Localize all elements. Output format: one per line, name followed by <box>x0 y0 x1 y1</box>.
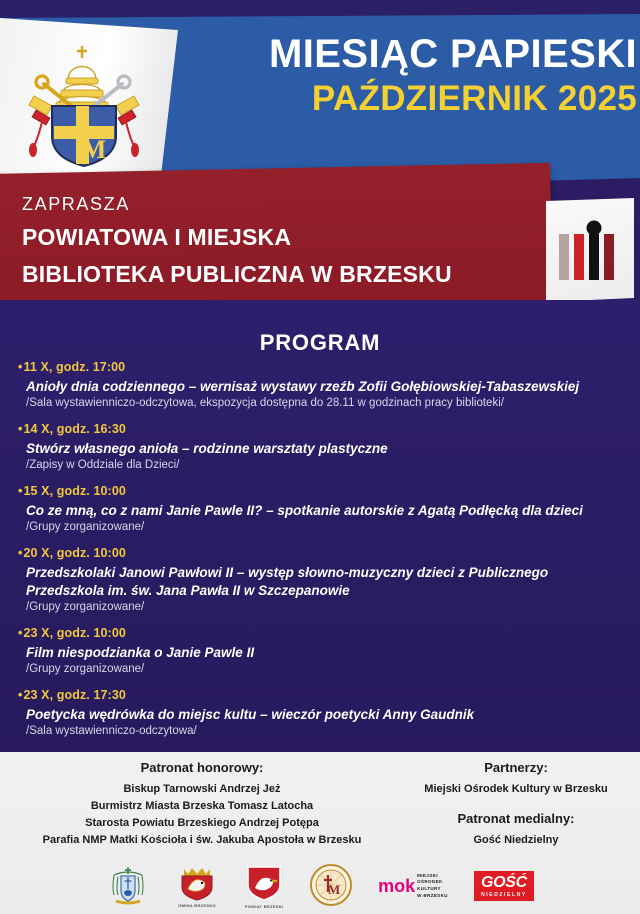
program-item: •23 X, godz. 10:00 Film niespodzianka o … <box>18 626 628 677</box>
logo-caption: GMINA BRZESKO <box>178 903 216 908</box>
media-patronage-heading: Patronat medialny: <box>398 811 634 826</box>
program-item-title: Poetycka wędrówka do miejsc kultu – wiec… <box>26 706 628 724</box>
parafia-nmp-logo: M <box>310 864 352 906</box>
gosc-niedzielny-logo: GOŚĆ NIEDZIELNY <box>474 871 534 901</box>
crest-panel: M <box>0 18 178 184</box>
program-item-date: •14 X, godz. 16:30 <box>18 422 628 438</box>
partner-line: Miejski Ośrodek Kultury w Brzesku <box>398 781 634 798</box>
powiat-brzeski-logo <box>244 864 284 902</box>
svg-text:M: M <box>82 135 107 164</box>
bullet-icon: • <box>18 422 22 436</box>
organizer-line-2: BIBLIOTEKA PUBLICZNA W BRZESKU <box>22 261 542 288</box>
program-item-title: Film niespodzianka o Janie Pawle II <box>26 644 628 662</box>
mok-brzesko-logo: mok MIEJSKI OŚRODEK KULTURY W BRZESKU <box>378 873 448 900</box>
mok-subtext: MIEJSKI OŚRODEK KULTURY W BRZESKU <box>417 873 448 900</box>
svg-text:M: M <box>328 882 340 897</box>
page-subtitle: PAŹDZIERNIK 2025 <box>185 81 637 116</box>
gosc-wordmark: GOŚĆ <box>481 875 527 891</box>
program-item: •23 X, godz. 17:30 Poetycka wędrówka do … <box>18 688 628 739</box>
logo-item: mok MIEJSKI OŚRODEK KULTURY W BRZESKU <box>378 860 448 912</box>
program-heading: PROGRAM <box>0 330 640 356</box>
sponsor-logo-strip: GMINA BRZESKO POWIAT BRZESKI M <box>0 858 640 914</box>
program-item-date: •20 X, godz. 10:00 <box>18 546 628 562</box>
program-item-title: Co ze mną, co z nami Janie Pawle II? – s… <box>26 502 628 520</box>
honorary-patron-line: Biskup Tarnowski Andrzej Jeż <box>12 781 392 798</box>
program-item-note: /Grupy zorganizowane/ <box>26 520 628 535</box>
program-item-title: Przedszkolaki Janowi Pawłowi II – występ… <box>26 564 628 599</box>
papal-coat-of-arms-icon: M <box>18 40 150 168</box>
program-item-title: Anioły dnia codziennego – wernisaż wysta… <box>26 378 628 396</box>
logo-caption: POWIAT BRZESKI <box>245 904 284 909</box>
program-item-date: •23 X, godz. 10:00 <box>18 626 628 642</box>
program-list: •11 X, godz. 17:00 Anioły dnia codzienne… <box>18 360 628 750</box>
honorary-patronage-heading: Patronat honorowy: <box>12 760 392 775</box>
bullet-icon: • <box>18 688 22 702</box>
honorary-patron-line: Parafia NMP Matki Kościoła i św. Jakuba … <box>12 832 392 849</box>
invitation-text-block: ZAPRASZA POWIATOWA I MIEJSKA BIBLIOTEKA … <box>22 194 542 288</box>
program-item-note: /Sala wystawienniczo-odczytowa, ekspozyc… <box>26 396 628 411</box>
bullet-icon: • <box>18 360 22 374</box>
program-item-date: •23 X, godz. 17:30 <box>18 688 628 704</box>
program-item: •20 X, godz. 10:00 Przedszkolaki Janowi … <box>18 546 628 615</box>
mok-wordmark: mok <box>378 877 415 895</box>
program-item-date: •11 X, godz. 17:00 <box>18 360 628 376</box>
media-patron-line: Gość Niedzielny <box>398 832 634 849</box>
gosc-subtext: NIEDZIELNY <box>481 893 527 898</box>
header-title-block: MIESIĄC PAPIESKI PAŹDZIERNIK 2025 <box>185 34 637 116</box>
bishop-coat-of-arms-logo <box>106 865 150 905</box>
logo-item: GOŚĆ NIEDZIELNY <box>474 860 534 912</box>
program-item-date: •15 X, godz. 10:00 <box>18 484 628 500</box>
program-item-note: /Grupy zorganizowane/ <box>26 662 628 677</box>
partners-column: Partnerzy: Miejski Ośrodek Kultury w Brz… <box>398 760 634 849</box>
logo-item: GMINA BRZESKO <box>176 860 218 912</box>
program-item-note: /Zapisy w Oddziale dla Dzieci/ <box>26 458 628 473</box>
bullet-icon: • <box>18 546 22 560</box>
bullet-icon: • <box>18 626 22 640</box>
invitation-kicker: ZAPRASZA <box>22 194 542 215</box>
program-item-note: /Grupy zorganizowane/ <box>26 600 628 615</box>
program-item: •14 X, godz. 16:30 Stwórz własnego anioł… <box>18 422 628 473</box>
library-books-person-icon <box>557 220 623 282</box>
program-item: •15 X, godz. 10:00 Co ze mną, co z nami … <box>18 484 628 535</box>
partners-heading: Partnerzy: <box>398 760 634 775</box>
program-item: •11 X, godz. 17:00 Anioły dnia codzienne… <box>18 360 628 411</box>
program-item-title: Stwórz własnego anioła – rodzinne warszt… <box>26 440 628 458</box>
gmina-brzesko-logo <box>176 865 218 901</box>
honorary-patron-line: Burmistrz Miasta Brzeska Tomasz Latocha <box>12 798 392 815</box>
program-item-note: /Sala wystawienniczo-odczytowa/ <box>26 724 628 739</box>
logo-item <box>106 860 150 912</box>
library-logo-panel <box>546 198 634 302</box>
honorary-patronage-column: Patronat honorowy: Biskup Tarnowski Andr… <box>12 760 392 849</box>
organizer-line-1: POWIATOWA I MIEJSKA <box>22 224 542 251</box>
poster-root: MIESIĄC PAPIESKI PAŹDZIERNIK 2025 <box>0 0 640 914</box>
logo-item: POWIAT BRZESKI <box>244 860 284 912</box>
page-title: MIESIĄC PAPIESKI <box>185 34 637 74</box>
bullet-icon: • <box>18 484 22 498</box>
logo-item: M <box>310 860 352 912</box>
honorary-patron-line: Starosta Powiatu Brzeskiego Andrzej Potę… <box>12 815 392 832</box>
